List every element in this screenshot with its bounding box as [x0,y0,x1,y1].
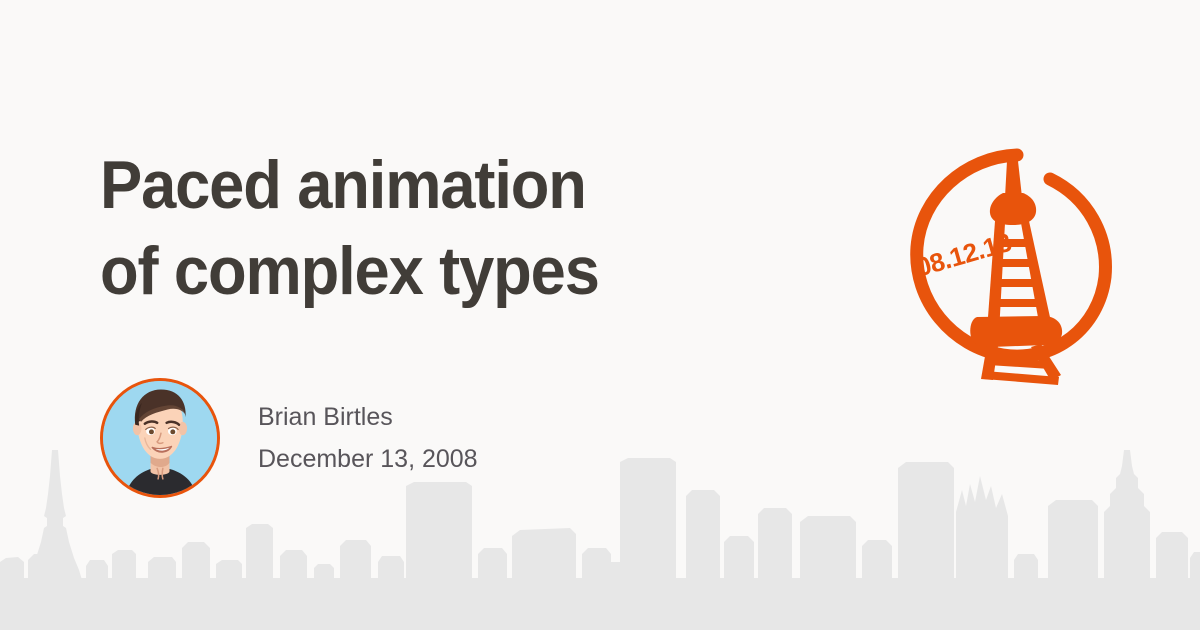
social-share-card: Paced animation of complex types [0,0,1200,630]
author-name: Brian Birtles [258,396,478,438]
avatar [100,378,220,498]
byline: Brian Birtles December 13, 2008 [100,378,478,498]
tokyo-tower-stamp-icon: 08.12.13 [895,135,1125,385]
post-date: December 13, 2008 [258,438,478,480]
page-title-line-1: Paced animation [100,142,807,228]
byline-text: Brian Birtles December 13, 2008 [258,396,478,480]
page-title: Paced animation of complex types [100,142,860,314]
page-title-line-2: of complex types [100,228,807,314]
